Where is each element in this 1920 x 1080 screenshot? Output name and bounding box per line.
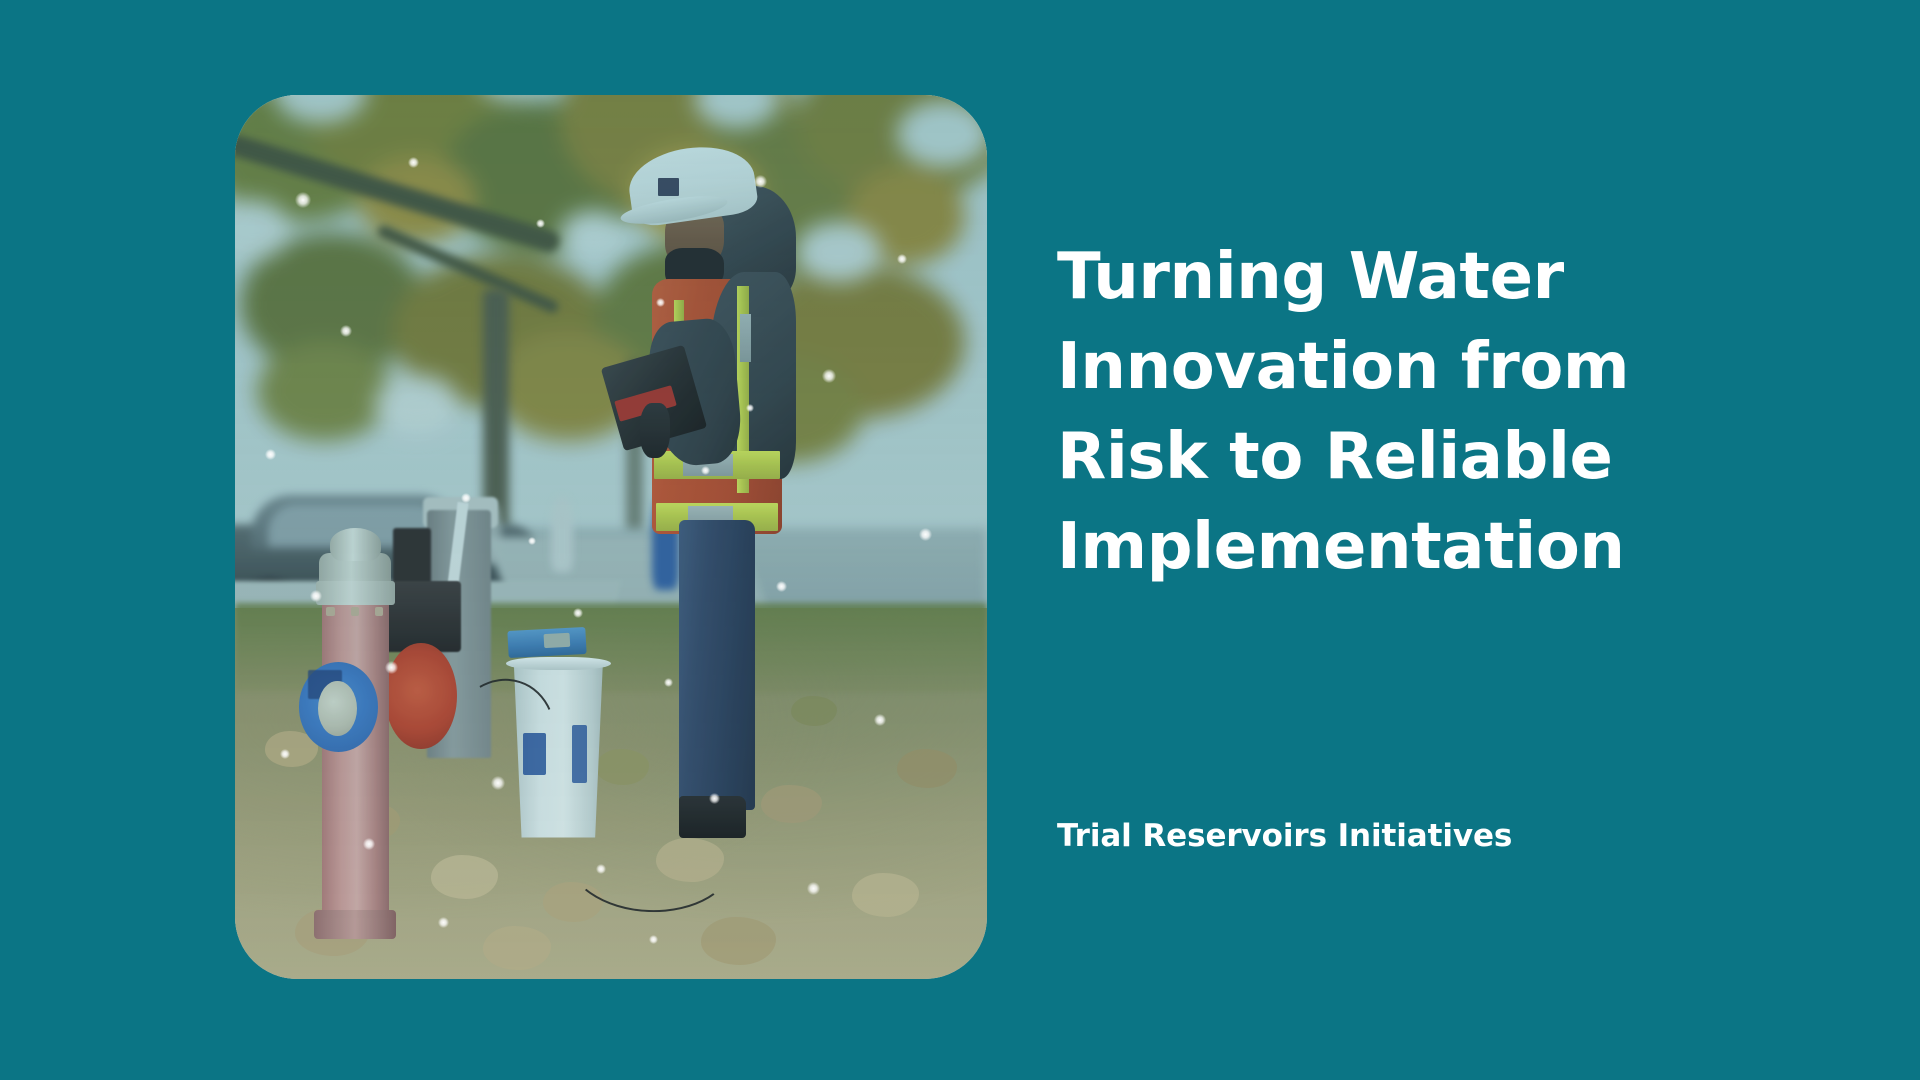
slide-canvas: Turning Water Innovation from Risk to Re… [0, 0, 1920, 1080]
hero-photo [235, 95, 987, 979]
text-column: Turning Water Innovation from Risk to Re… [1057, 0, 1817, 1080]
subtitle: Trial Reservoirs Initiatives [1057, 818, 1512, 854]
hero-photo-card [235, 95, 987, 979]
photo-haze [235, 95, 987, 979]
headline-line-3: Risk to Reliable [1057, 412, 1717, 502]
headline-line-1: Turning Water [1057, 232, 1717, 322]
page-title: Turning Water Innovation from Risk to Re… [1057, 232, 1717, 592]
headline-line-4: Implementation [1057, 502, 1717, 592]
headline-line-2: Innovation from [1057, 322, 1717, 412]
